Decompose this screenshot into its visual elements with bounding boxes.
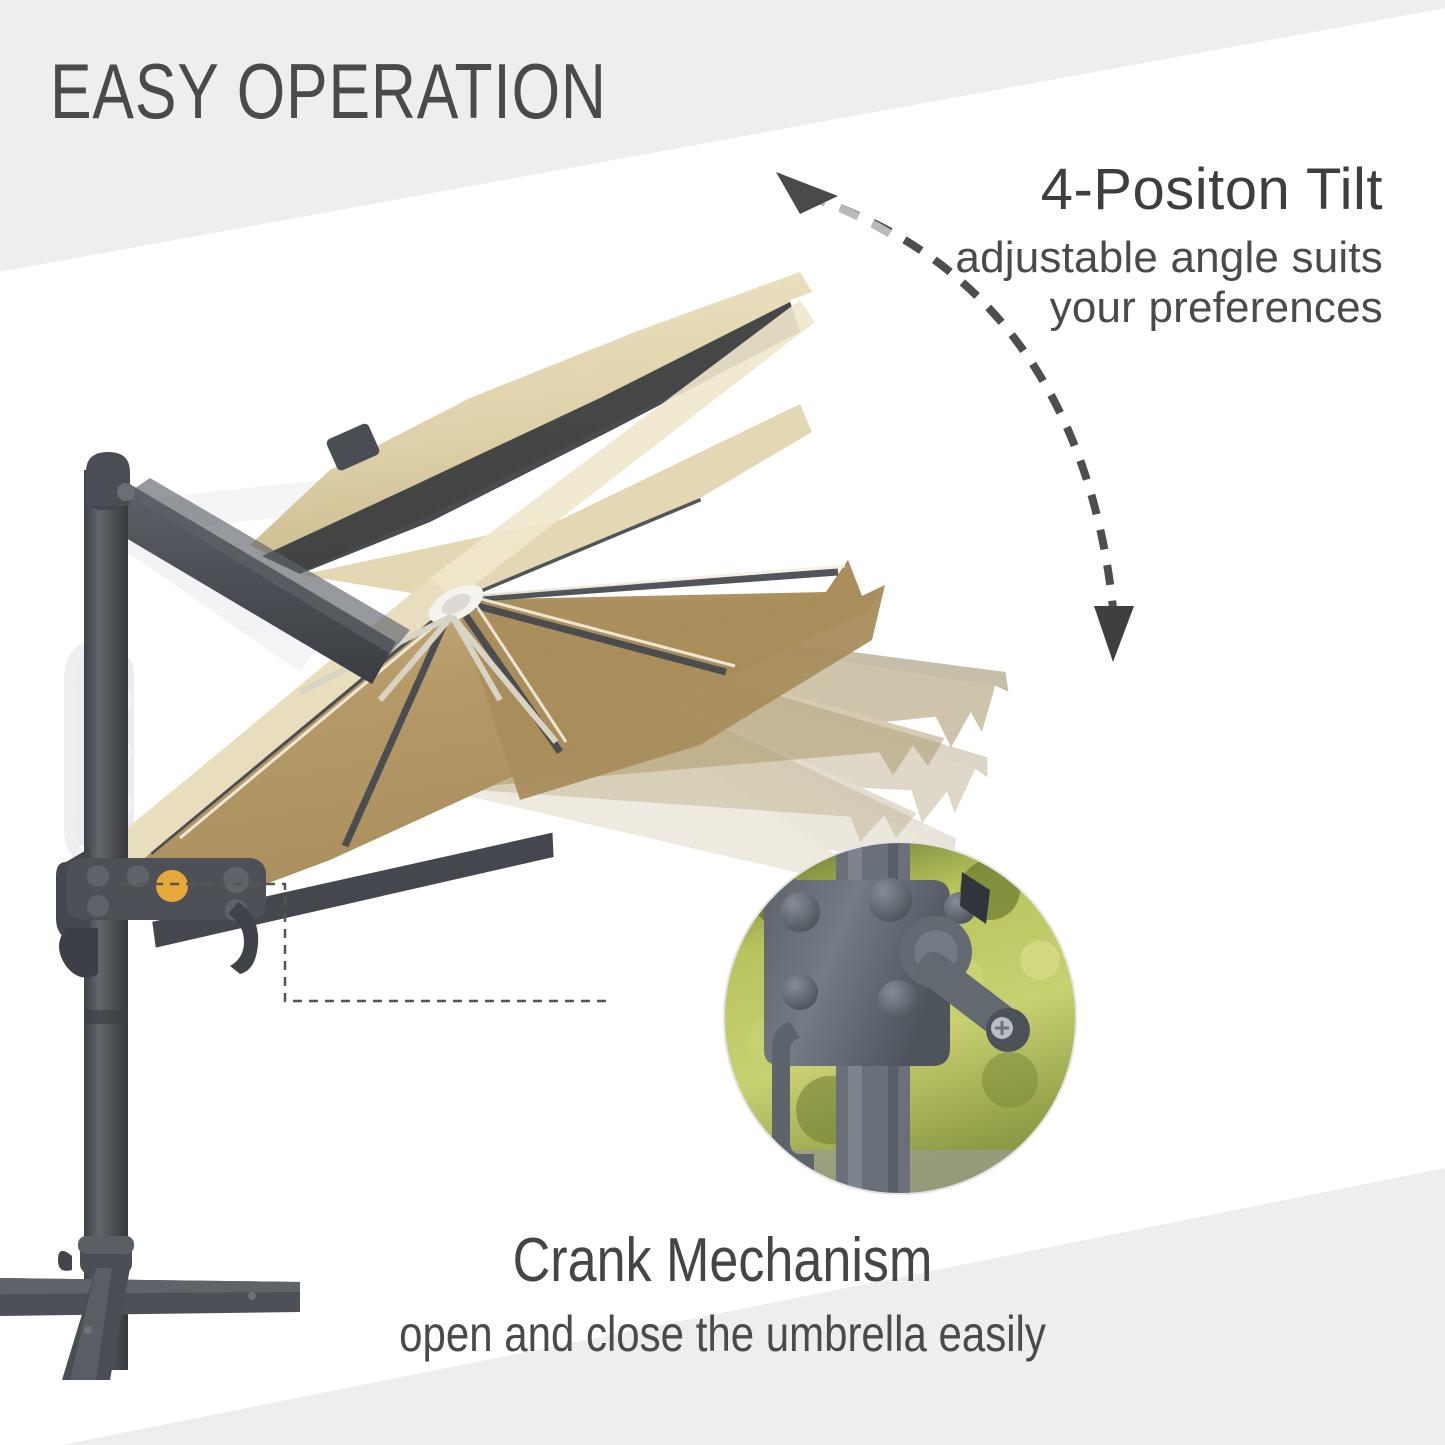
crank-feature-subtitle: open and close the umbrella easily: [116, 1307, 1330, 1362]
crank-inset-photo: [724, 842, 1076, 1210]
tilt-feature-title: 4-Positon Tilt: [823, 160, 1383, 221]
tilt-feature-subtitle-line2: your preferences: [823, 283, 1383, 333]
crank-feature-title: Crank Mechanism: [116, 1228, 1330, 1293]
tilt-feature-text: 4-Positon Tilt adjustable angle suits yo…: [823, 160, 1383, 333]
page-title: EASY OPERATION: [50, 52, 607, 130]
crank-knob-icon: [156, 870, 188, 902]
tilt-feature-subtitle-line1: adjustable angle suits: [823, 233, 1383, 283]
crank-feature-text: Crank Mechanism open and close the umbre…: [0, 1228, 1445, 1362]
infographic-canvas: EASY OPERATION 4-Positon Tilt adjustable…: [0, 0, 1445, 1445]
arc-end-arrowhead: [1094, 606, 1134, 662]
mast-crank-housing[interactable]: [56, 848, 266, 978]
